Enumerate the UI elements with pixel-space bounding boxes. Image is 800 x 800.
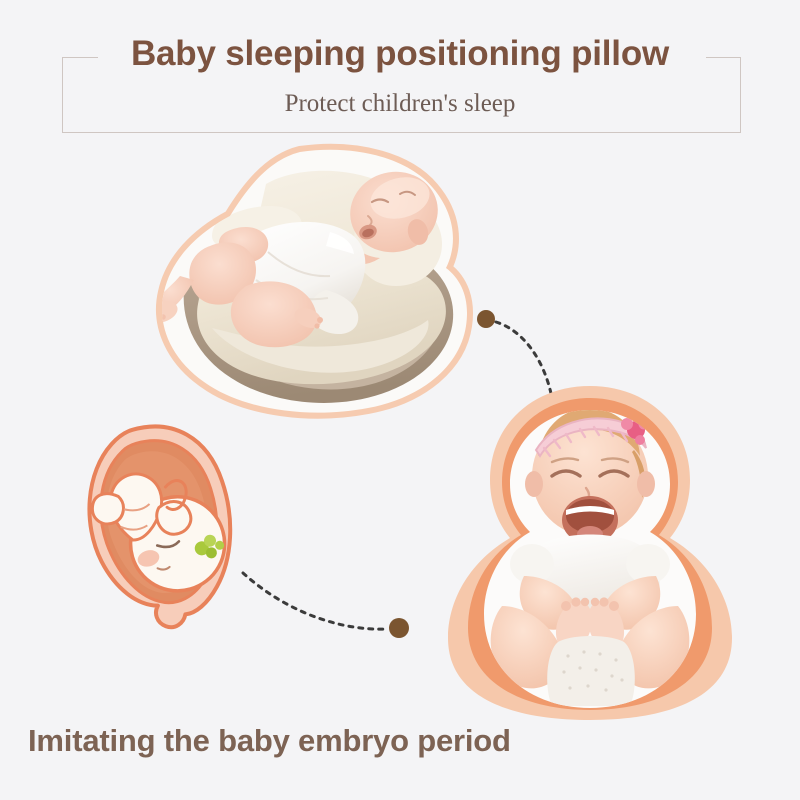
connector-dot [477,310,495,328]
page-subtitle: Protect children's sleep [0,90,800,118]
footer-caption: Imitating the baby embryo period [28,723,511,759]
product-marketing-banner: Baby sleeping positioning pillow Protect… [0,0,800,800]
connector-womb-to-baby [235,555,425,655]
page-title: Baby sleeping positioning pillow [0,34,800,74]
laughing-baby-photo [440,380,740,725]
connector-dot [389,618,409,638]
baby-romper [547,636,635,706]
baby-on-positioning-pillow-photo [150,140,510,420]
connector-dashed-line [243,573,387,629]
header-section: Baby sleeping positioning pillow Protect… [0,0,800,150]
